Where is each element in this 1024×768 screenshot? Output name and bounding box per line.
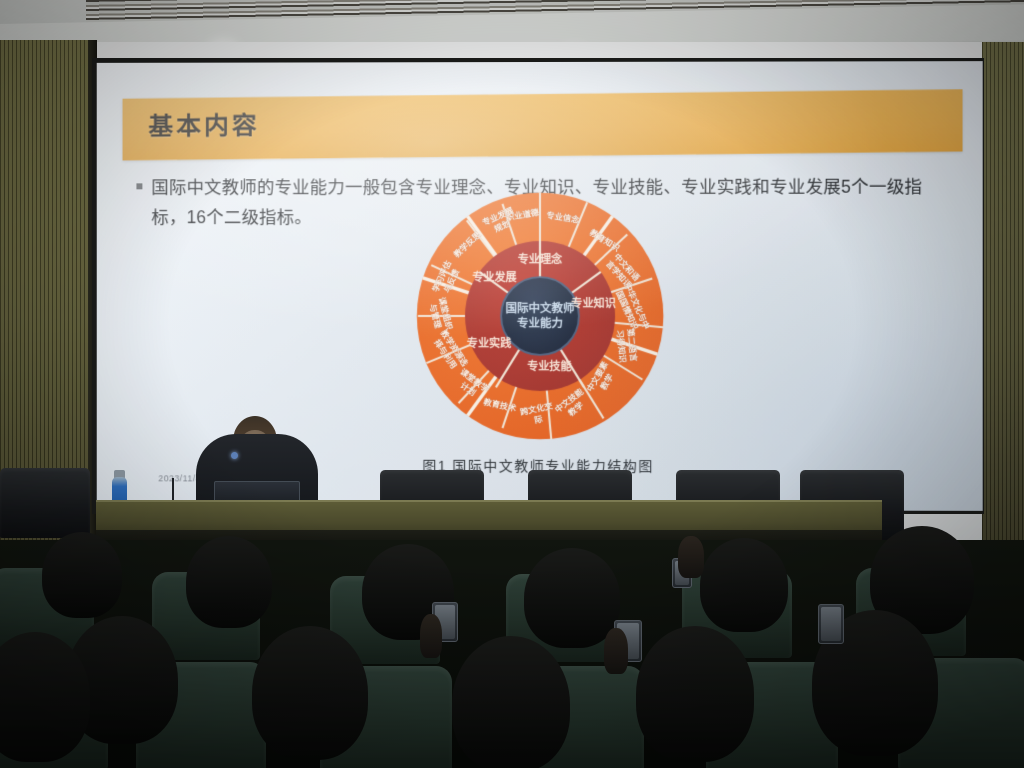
bullet-square-icon <box>136 183 142 189</box>
audience-head <box>452 636 570 768</box>
raised-hand <box>678 536 704 578</box>
audience-head <box>524 548 620 648</box>
raised-hand <box>420 614 442 658</box>
audience-head <box>700 538 788 632</box>
audience-head <box>186 536 272 628</box>
outer-label-dierhuyuxide: 第二语言习得知识 <box>615 328 639 364</box>
audience-head <box>42 532 122 618</box>
inner-label-zhuanyefazhan: 专业发展 <box>472 270 517 284</box>
core-label-line2: 专业能力 <box>517 316 563 330</box>
inner-label-zhuanyelinian: 专业理念 <box>518 252 563 266</box>
stage-chair <box>0 468 90 538</box>
phone-screen <box>821 607 841 641</box>
inner-label-zhuanyezhishi: 专业知识 <box>571 296 616 310</box>
raised-hand <box>604 628 628 674</box>
left-wall-panel <box>0 40 92 540</box>
smartphone-icon <box>818 604 844 644</box>
inner-label-zhuanyeshijian: 专业实践 <box>467 336 511 350</box>
lecture-hall-scene: 基本内容 国际中文教师的专业能力一般包含专业理念、专业知识、专业技能、专业实践和… <box>0 0 1024 768</box>
ring-chart-svg: 国际中文教师 专业能力 专业理念 专业知识 专业技能 专业实践 专业发展 职业道… <box>385 182 695 450</box>
core-circle <box>501 277 579 355</box>
competency-ring-diagram: 国际中文教师 专业能力 专业理念 专业知识 专业技能 专业实践 专业发展 职业道… <box>385 182 695 450</box>
core-label-line1: 国际中文教师 <box>505 301 575 315</box>
audience-area <box>0 540 1024 768</box>
presenter-badge-icon <box>231 452 238 459</box>
audience-head <box>252 626 368 760</box>
inner-label-zhuanyejineng: 专业技能 <box>527 359 571 373</box>
right-wall-panel <box>982 42 1024 542</box>
slide-title: 基本内容 <box>148 106 259 143</box>
audience-head <box>636 626 754 762</box>
